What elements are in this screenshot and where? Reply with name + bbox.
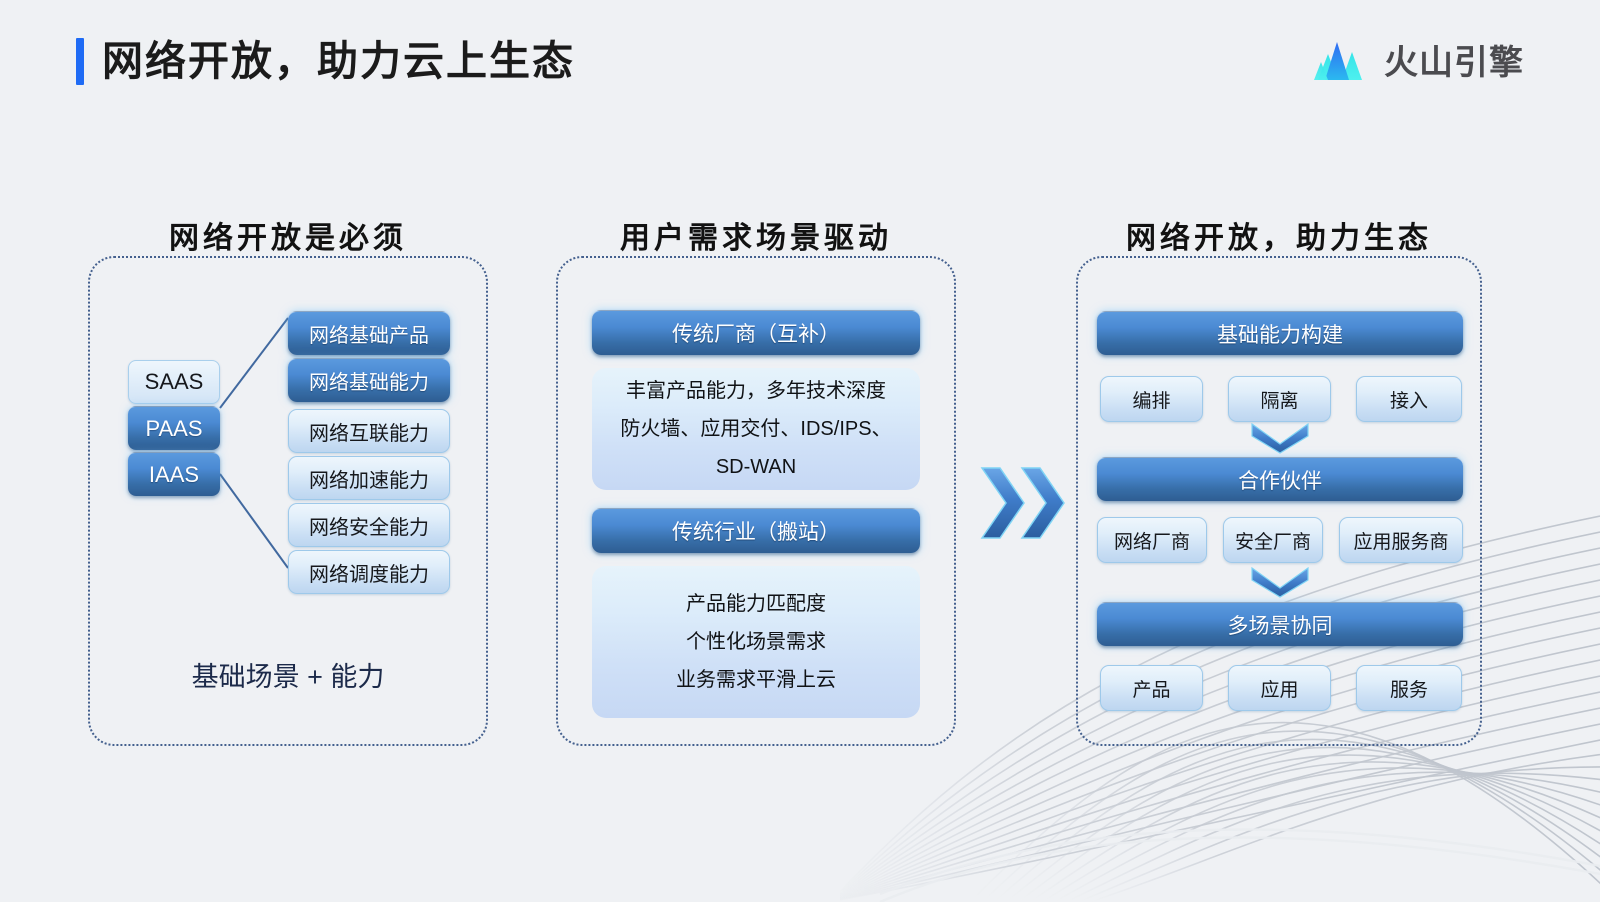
capability-label: 网络调度能力 [309, 558, 429, 587]
chip-label: 应用 [1260, 675, 1298, 702]
stage-chip[interactable]: 安全厂商 [1223, 517, 1323, 563]
stage-chip[interactable]: 应用 [1228, 665, 1331, 711]
body-line: 防火墙、应用交付、IDS/IPS、 [620, 410, 891, 448]
stage-chip[interactable]: 服务 [1356, 665, 1462, 711]
chevron-down-icon [1250, 566, 1310, 598]
stage-chip[interactable]: 应用服务商 [1339, 517, 1463, 563]
capability-box[interactable]: 网络调度能力 [288, 550, 450, 594]
tier-iaas[interactable]: IAAS [128, 452, 220, 496]
page-title: 网络开放，助力云上生态 [102, 28, 575, 94]
group-heading-label: 传统厂商（互补） [672, 318, 840, 348]
chip-label: 编排 [1132, 386, 1170, 413]
chip-label: 接入 [1390, 386, 1428, 413]
body-line: 业务需求平滑上云 [676, 661, 836, 699]
column-2-title: 用户需求场景驱动 [556, 213, 956, 257]
body-line: 个性化场景需求 [686, 623, 826, 661]
group-heading-traditional-vendor[interactable]: 传统厂商（互补） [592, 310, 920, 355]
stage-chip[interactable]: 产品 [1100, 665, 1203, 711]
chip-label: 隔离 [1260, 386, 1298, 413]
capability-label: 网络互联能力 [309, 417, 429, 446]
capability-box[interactable]: 网络安全能力 [288, 503, 450, 547]
group-heading-traditional-industry[interactable]: 传统行业（搬站） [592, 508, 920, 553]
volcano-mountain-icon [1312, 34, 1368, 84]
capability-box[interactable]: 网络互联能力 [288, 409, 450, 453]
stage-heading-label: 基础能力构建 [1217, 319, 1343, 349]
tier-label: SAAS [145, 369, 204, 395]
chevron-down-icon [1250, 422, 1310, 454]
stage-heading-multi-scenario[interactable]: 多场景协同 [1097, 602, 1463, 646]
tier-saas[interactable]: SAAS [128, 360, 220, 404]
column-1-footer-text: 基础场景 + 能力 [88, 655, 488, 694]
capability-label: 网络基础产品 [309, 319, 429, 348]
stage-heading-partners[interactable]: 合作伙伴 [1097, 457, 1463, 501]
chip-label: 安全厂商 [1235, 527, 1311, 554]
group-body-traditional-industry: 产品能力匹配度 个性化场景需求 业务需求平滑上云 [592, 566, 920, 718]
stage-chip[interactable]: 编排 [1100, 376, 1203, 422]
column-3-title: 网络开放，助力生态 [1076, 213, 1482, 257]
tier-paas[interactable]: PAAS [128, 406, 220, 450]
capability-label: 网络安全能力 [309, 511, 429, 540]
slide-canvas: 网络开放，助力云上生态 火山引擎 [0, 0, 1600, 902]
brand-logo: 火山引擎 [1312, 34, 1524, 84]
stage-heading-capability-build[interactable]: 基础能力构建 [1097, 311, 1463, 355]
stage-chip[interactable]: 隔离 [1228, 376, 1331, 422]
double-chevron-right-icon [980, 462, 1066, 544]
title-accent-bar [76, 38, 84, 85]
capability-label: 网络加速能力 [309, 464, 429, 493]
body-line: 丰富产品能力，多年技术深度 [626, 372, 886, 410]
stage-heading-label: 多场景协同 [1228, 610, 1333, 640]
body-line: SD-WAN [716, 448, 796, 486]
body-line: 产品能力匹配度 [686, 585, 826, 623]
brand-name: 火山引擎 [1384, 35, 1524, 84]
tier-label: IAAS [149, 462, 199, 488]
stage-heading-label: 合作伙伴 [1238, 465, 1322, 495]
capability-box[interactable]: 网络加速能力 [288, 456, 450, 500]
slide-header: 网络开放，助力云上生态 火山引擎 [0, 28, 1600, 104]
capability-box[interactable]: 网络基础产品 [288, 311, 450, 355]
group-body-traditional-vendor: 丰富产品能力，多年技术深度 防火墙、应用交付、IDS/IPS、 SD-WAN [592, 368, 920, 490]
column-1-title: 网络开放是必须 [88, 213, 488, 257]
chip-label: 产品 [1132, 675, 1170, 702]
capability-box[interactable]: 网络基础能力 [288, 358, 450, 402]
chip-label: 服务 [1390, 675, 1428, 702]
capability-label: 网络基础能力 [309, 366, 429, 395]
chip-label: 应用服务商 [1353, 527, 1448, 554]
stage-chip[interactable]: 网络厂商 [1097, 517, 1207, 563]
tier-label: PAAS [145, 416, 202, 442]
stage-chip[interactable]: 接入 [1356, 376, 1462, 422]
chip-label: 网络厂商 [1114, 527, 1190, 554]
group-heading-label: 传统行业（搬站） [672, 516, 840, 546]
